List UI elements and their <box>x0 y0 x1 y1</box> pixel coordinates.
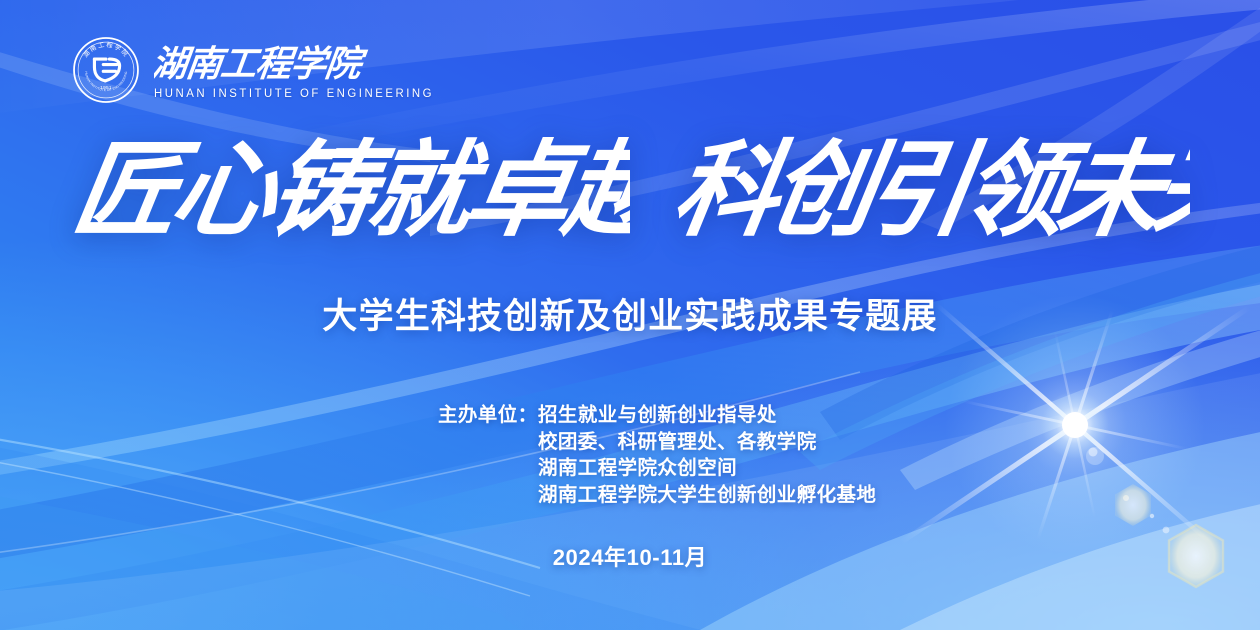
headline-right: 科创引领未来 <box>670 134 1190 254</box>
organizer-row: 主办单位： 招生就业与创新创业指导处 <box>438 402 876 429</box>
organizer-name: 湖南工程学院众创空间 <box>538 455 876 482</box>
svg-text:匠心铸就卓越: 匠心铸就卓越 <box>70 134 630 251</box>
svg-text:科创引领未来: 科创引领未来 <box>670 134 1190 251</box>
organizers-label-spacer <box>438 429 538 456</box>
headline-left: 匠心铸就卓越 <box>70 134 630 254</box>
event-subtitle: 大学生科技创新及创业实践成果专题展 <box>0 297 1260 337</box>
event-date: 2024年10-11月 <box>0 540 1260 572</box>
svg-text:湖南工程学院: 湖南工程学院 <box>154 42 369 85</box>
organizer-row: 湖南工程学院大学生创新创业孵化基地 <box>438 482 876 509</box>
organizer-name: 招生就业与创新创业指导处 <box>538 402 876 429</box>
organizers-label-spacer <box>438 482 538 509</box>
organizer-row: 校团委、科研管理处、各教学院 <box>438 429 876 456</box>
university-name-block: 湖南工程学院 HUNAN INSTITUTE OF ENGINEERING <box>154 42 437 100</box>
organizer-row: 湖南工程学院众创空间 <box>438 455 876 482</box>
main-headline: 匠心铸就卓越 科创引领未来 <box>0 134 1260 254</box>
organizers-label-spacer <box>438 455 538 482</box>
university-name-cn: 湖南工程学院 <box>154 42 369 86</box>
organizers-label: 主办单位： <box>438 402 538 429</box>
university-name-en: HUNAN INSTITUTE OF ENGINEERING <box>154 88 434 100</box>
svg-text:1951: 1951 <box>100 85 112 91</box>
university-seal-icon: 湖南工程学院 HUNAN INSTITUTE OF ENGINEERING 19… <box>72 36 140 104</box>
organizers-block: 主办单位： 招生就业与创新创业指导处 校团委、科研管理处、各教学院 湖南工程学院… <box>438 402 876 508</box>
university-logo: 湖南工程学院 HUNAN INSTITUTE OF ENGINEERING 19… <box>72 36 437 104</box>
organizer-name: 校团委、科研管理处、各教学院 <box>538 429 876 456</box>
event-poster-banner: 湖南工程学院 HUNAN INSTITUTE OF ENGINEERING 19… <box>0 0 1260 630</box>
organizer-name: 湖南工程学院大学生创新创业孵化基地 <box>538 482 876 509</box>
